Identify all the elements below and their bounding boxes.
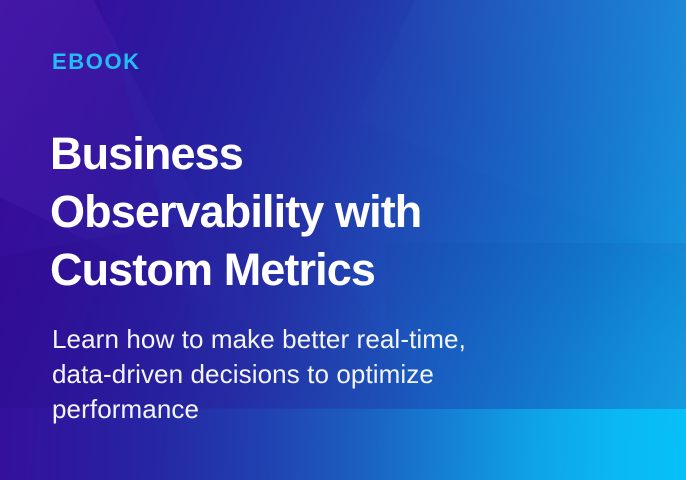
cover-content: EBOOK Business Observability with Custom… (52, 0, 652, 480)
cover-subtitle-line-1: Learn how to make better real-time, (52, 322, 612, 357)
cover-title: Business Observability with Custom Metri… (50, 125, 610, 299)
cover-title-line-3: Custom Metrics (50, 241, 610, 299)
cover-title-line-1: Business (50, 125, 610, 183)
cover-subtitle-line-2: data-driven decisions to optimize (52, 357, 612, 392)
content-type-label: EBOOK (52, 49, 141, 75)
ebook-cover: EBOOK Business Observability with Custom… (0, 0, 686, 480)
cover-subtitle: Learn how to make better real-time, data… (52, 322, 612, 427)
cover-title-line-2: Observability with (50, 183, 610, 241)
cover-subtitle-line-3: performance (52, 392, 612, 427)
